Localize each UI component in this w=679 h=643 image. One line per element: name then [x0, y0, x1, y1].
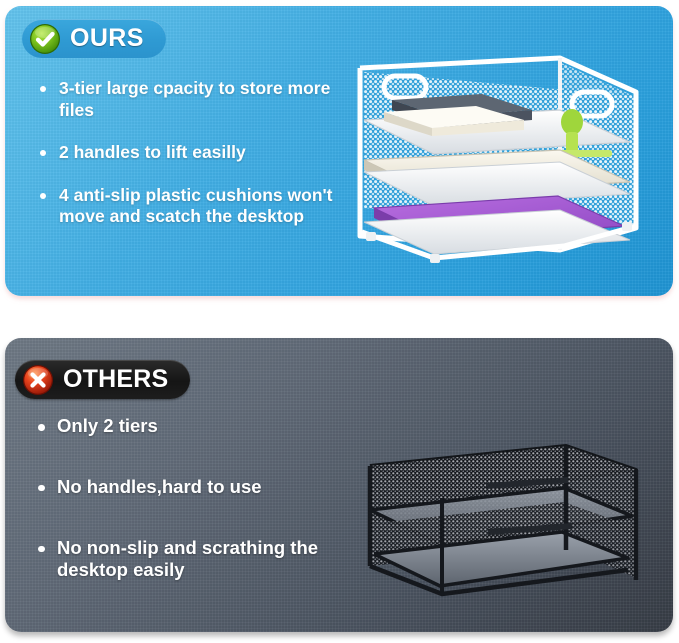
white-3-tier-mesh-file-organizer-image: [334, 50, 664, 265]
ours-bullet-list: 3-tier large cpacity to store more files…: [38, 78, 338, 249]
others-badge-label: OTHERS: [63, 365, 168, 394]
others-bullet-list: Only 2 tiers No handles,hard to use No n…: [36, 415, 356, 620]
x-circle-icon: [22, 364, 54, 396]
ours-badge: OURS: [22, 19, 166, 58]
list-item: Only 2 tiers: [36, 415, 356, 438]
list-item: 2 handles to lift easilly: [38, 142, 338, 164]
black-2-tier-mesh-tray-image: [336, 428, 662, 606]
comparison-infographic: OURS 3-tier large cpacity to store more …: [0, 0, 679, 643]
list-item: 4 anti-slip plastic cushions won't move …: [38, 185, 338, 228]
check-circle-icon: [29, 23, 61, 55]
list-item: 3-tier large cpacity to store more files: [38, 78, 338, 121]
list-item: No handles,hard to use: [36, 476, 356, 499]
list-item: No non-slip and scrathing the desktop ea…: [36, 537, 356, 583]
others-badge: OTHERS: [15, 360, 190, 399]
ours-badge-label: OURS: [70, 24, 144, 53]
